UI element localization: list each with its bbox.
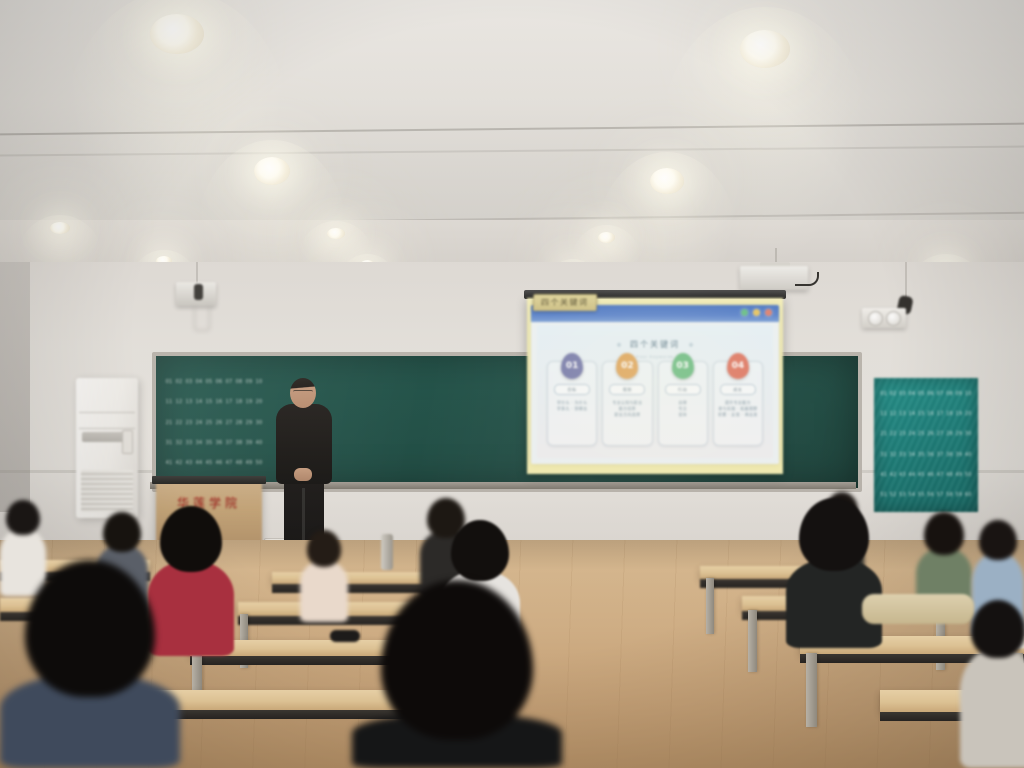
seat-number: 47: [935, 473, 944, 478]
slide-card-02: 02规划专业认知与职业能力培养职业方向选择: [602, 361, 652, 446]
downlight-row2-left: [254, 157, 290, 185]
seat-number: 45: [917, 473, 926, 478]
audience-torso: [300, 561, 348, 622]
seat-number: 59: [954, 493, 963, 498]
desk-leg: [706, 578, 714, 634]
water-bottle: [381, 534, 393, 570]
seat-number: 40: [254, 441, 264, 446]
seat-number: 56: [926, 493, 935, 498]
slide-card-row: 01目标学什么 · 为什么学多久 · 到哪去02规划专业认知与职业能力培养职业方…: [547, 361, 763, 446]
downlight-row3-b: [327, 228, 345, 239]
seat-number: 15: [204, 400, 214, 405]
seat-number: 02: [174, 380, 184, 385]
air-conditioner: [76, 378, 138, 518]
card-pill-02: 规划: [609, 384, 645, 395]
seat-number: 07: [224, 380, 234, 385]
seat-number: 49: [954, 473, 963, 478]
card-lines-04: 提升专业能力参与实践 · 拓展视野积累 · 反思 · 再出发: [717, 400, 759, 418]
seat-number: 39: [954, 453, 963, 458]
seat-number: 05: [204, 380, 214, 385]
glasses-icon: [293, 390, 313, 396]
seat-number: 37: [935, 453, 944, 458]
audience-head: [971, 600, 1024, 658]
projection-screen: ❈ 四个关键词 ❈ Four Keywords 01目标学什么 · 为什么学多久…: [527, 298, 783, 474]
seat-number: 31: [164, 441, 174, 446]
ac-seam: [79, 412, 135, 413]
downlight-row3-c: [598, 232, 615, 243]
audience-head: [25, 560, 155, 697]
podium-top: [152, 476, 266, 484]
seat-number: 36: [926, 453, 935, 458]
seat-number: 35: [917, 453, 926, 458]
presenter-hands: [294, 468, 312, 481]
seat-number: 30: [254, 421, 264, 426]
seat-number: 38: [234, 441, 244, 446]
audience-member: [786, 498, 882, 648]
seat-number: 16: [926, 412, 935, 417]
seat-number: 40: [964, 453, 973, 458]
seat-number: 20: [254, 400, 264, 405]
seat-number: 34: [194, 441, 204, 446]
seat-number: 39: [244, 441, 254, 446]
card-pill-04: 成长: [720, 384, 756, 395]
seat-number: 23: [898, 432, 907, 437]
seat-number: 32: [174, 441, 184, 446]
seat-number: 25: [917, 432, 926, 437]
seat-number: 05: [917, 392, 926, 397]
folded-coat: [862, 594, 974, 624]
seat-number: 02: [888, 392, 897, 397]
seat-number: 28: [234, 421, 244, 426]
seat-number: 06: [214, 380, 224, 385]
audience-head: [799, 498, 868, 571]
seat-number: 03: [898, 392, 907, 397]
downlight-row2-right: [650, 168, 684, 194]
yellow-dot[interactable]: [753, 309, 760, 316]
heading-deco-right: ❈: [684, 343, 697, 349]
seat-number: 11: [164, 400, 174, 405]
seat-number: 60: [964, 493, 973, 498]
camera-cable: [194, 306, 210, 331]
seat-number: 46: [926, 473, 935, 478]
green-dot[interactable]: [741, 309, 748, 316]
seat-number: 06: [926, 392, 935, 397]
seat-number: 35: [204, 441, 214, 446]
seat-number: 38: [945, 453, 954, 458]
seat-number: 43: [184, 461, 194, 466]
slide-card-01: 01目标学什么 · 为什么学多久 · 到哪去: [547, 361, 597, 446]
card-pill-01: 目标: [554, 384, 590, 395]
card-lines-01: 学什么 · 为什么学多久 · 到哪去: [551, 400, 593, 412]
seat-number: 33: [898, 453, 907, 458]
audience-head: [979, 520, 1016, 560]
emergency-lamp-left: [868, 311, 883, 326]
emergency-light-rod: [905, 262, 907, 298]
audience-member: [960, 600, 1024, 768]
seat-number: 04: [194, 380, 204, 385]
slide-card-04: 04成长提升专业能力参与实践 · 拓展视野积累 · 反思 · 再出发: [713, 361, 763, 446]
seat-number: 50: [254, 461, 264, 466]
ac-control-panel[interactable]: [122, 430, 133, 454]
card-badge-04: 04: [727, 353, 749, 379]
desk-leg: [806, 653, 817, 727]
seat-number: 30: [964, 432, 973, 437]
seat-number: 16: [214, 400, 224, 405]
seat-number-grid-banner: 0102030405060708091011121314151617181920…: [879, 392, 973, 498]
ac-seam: [79, 428, 135, 429]
seat-number: 21: [879, 432, 888, 437]
seat-number: 07: [935, 392, 944, 397]
seat-number: 14: [194, 400, 204, 405]
seat-number: 24: [194, 421, 204, 426]
downlight-row3-a: [50, 222, 70, 234]
seat-number: 42: [174, 461, 184, 466]
seat-number: 36: [214, 441, 224, 446]
seat-number: 24: [907, 432, 916, 437]
seat-number: 34: [907, 453, 916, 458]
seat-number: 15: [917, 412, 926, 417]
ac-grille: [81, 470, 133, 512]
ceiling-seam: [0, 146, 1024, 157]
seat-number: 27: [224, 421, 234, 426]
audience-head: [451, 520, 509, 581]
seat-number: 29: [954, 432, 963, 437]
slide-card-03: 03行动自律专注坚持: [658, 361, 708, 446]
card-badge-01: 01: [561, 353, 583, 379]
seat-number: 22: [888, 432, 897, 437]
seat-number: 12: [174, 400, 184, 405]
ceiling-seam: [0, 123, 1024, 136]
desk-leg: [748, 610, 757, 672]
seat-number: 47: [224, 461, 234, 466]
seat-number: 42: [888, 473, 897, 478]
card-pill-03: 行动: [665, 384, 701, 395]
lecture-hall-photo: 0102030405060708091011121314151617181920…: [0, 0, 1024, 768]
card-line: 职业方向选择: [606, 412, 648, 418]
seat-number: 04: [907, 392, 916, 397]
seat-number: 33: [184, 441, 194, 446]
seat-number: 41: [164, 461, 174, 466]
card-lines-02: 专业认知与职业能力培养职业方向选择: [606, 400, 648, 418]
heading-deco-left: ❈: [613, 343, 626, 349]
seat-number: 43: [898, 473, 907, 478]
seat-number: 31: [879, 453, 888, 458]
seat-number: 14: [907, 412, 916, 417]
seat-number: 08: [234, 380, 244, 385]
seat-number: 10: [254, 380, 264, 385]
seat-number: 11: [879, 412, 888, 417]
audience-member: [0, 560, 180, 768]
card-lines-03: 自律专注坚持: [662, 400, 704, 418]
seat-number: 26: [926, 432, 935, 437]
seat-number: 46: [214, 461, 224, 466]
window-dots: [741, 309, 772, 316]
audience-member: [300, 530, 348, 622]
card-line: 学多久 · 到哪去: [551, 406, 593, 412]
audience-torso: [960, 649, 1024, 768]
seat-number: 09: [244, 380, 254, 385]
seat-number: 18: [234, 400, 244, 405]
seat-number: 09: [954, 392, 963, 397]
seat-number: 29: [244, 421, 254, 426]
seat-number: 13: [898, 412, 907, 417]
seat-number: 55: [917, 493, 926, 498]
seat-number: 19: [244, 400, 254, 405]
seat-number: 17: [935, 412, 944, 417]
card-line: 积累 · 反思 · 再出发: [717, 412, 759, 418]
seat-number-grid-board: 0102030405060708091011121314151617181920…: [164, 380, 264, 466]
seat-number: 27: [935, 432, 944, 437]
seat-number: 32: [888, 453, 897, 458]
camera-mount-rod: [196, 262, 198, 284]
audience-head: [6, 500, 39, 535]
seat-number: 57: [935, 493, 944, 498]
seat-number: 50: [964, 473, 973, 478]
seat-number: 13: [184, 400, 194, 405]
seat-number: 08: [945, 392, 954, 397]
seat-number: 12: [888, 412, 897, 417]
slide-corner-tag: 四个关键词: [533, 294, 597, 311]
security-camera-icon: [176, 282, 216, 306]
audience-head: [103, 512, 140, 552]
slide: ❈ 四个关键词 ❈ Four Keywords 01目标学什么 · 为什么学多久…: [527, 298, 783, 474]
seat-number: 54: [907, 493, 916, 498]
seat-number: 49: [244, 461, 254, 466]
seat-number: 28: [945, 432, 954, 437]
seat-number: 19: [954, 412, 963, 417]
seat-number: 48: [234, 461, 244, 466]
audience-head: [381, 580, 532, 740]
seat-number: 21: [164, 421, 174, 426]
slide-window: ❈ 四个关键词 ❈ Four Keywords 01目标学什么 · 为什么学多久…: [531, 305, 779, 464]
seat-number: 01: [164, 380, 174, 385]
red-dot[interactable]: [765, 309, 772, 316]
seat-number: 37: [224, 441, 234, 446]
audience-head: [924, 512, 964, 555]
seat-number: 20: [964, 412, 973, 417]
slide-title-zh: 四个关键词: [630, 340, 680, 349]
card-badge-03: 03: [672, 353, 694, 379]
seat-number: 03: [184, 380, 194, 385]
seat-number: 52: [888, 493, 897, 498]
seat-number: 26: [214, 421, 224, 426]
seat-number: 41: [879, 473, 888, 478]
seat-number: 44: [907, 473, 916, 478]
seat-number: 10: [964, 392, 973, 397]
seat-number: 23: [184, 421, 194, 426]
seat-number: 17: [224, 400, 234, 405]
seat-number: 25: [204, 421, 214, 426]
seat-number: 44: [194, 461, 204, 466]
seat-number: 45: [204, 461, 214, 466]
emergency-light-icon: [862, 308, 906, 328]
audience-head: [307, 530, 342, 567]
seat-number: 18: [945, 412, 954, 417]
audience-member: [352, 580, 562, 768]
seat-number: 01: [879, 392, 888, 397]
seat-number: 58: [945, 493, 954, 498]
seat-number: 48: [945, 473, 954, 478]
downlight-row1-left: [150, 14, 204, 54]
emergency-lamp-right: [886, 311, 901, 326]
slide-body: ❈ 四个关键词 ❈ Four Keywords 01目标学什么 · 为什么学多久…: [537, 325, 773, 458]
seat-number-banner: 0102030405060708091011121314151617181920…: [874, 378, 978, 512]
card-line: 坚持: [662, 412, 704, 418]
seat-number: 53: [898, 493, 907, 498]
downlight-row1-right: [740, 30, 790, 68]
card-badge-02: 02: [616, 353, 638, 379]
seat-number: 22: [174, 421, 184, 426]
wall-left-panel: [0, 262, 30, 512]
